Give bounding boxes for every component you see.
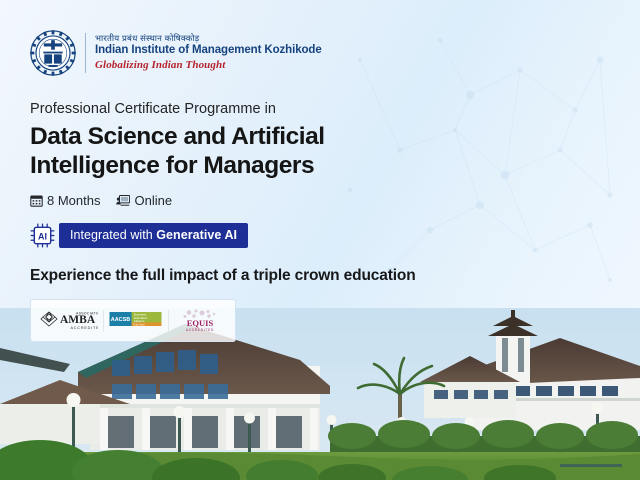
svg-text:AMBA: AMBA xyxy=(60,314,96,326)
ai-badge-prefix: Integrated with xyxy=(70,228,156,242)
banner-content: भारतीय प्रबंध संस्थान कोषिक्कोड़ Indian … xyxy=(0,0,640,320)
aacsb-logo: AACSB Business Education Alliance Third … xyxy=(109,309,163,332)
calendar-icon xyxy=(30,194,43,207)
accreditation-aacsb: AACSB Business Education Alliance Third … xyxy=(109,309,163,332)
ai-badge-emphasis: Generative AI xyxy=(156,228,237,242)
accreditation-divider-1 xyxy=(103,310,104,332)
page-title-line-1: Data Science and Artificial xyxy=(30,123,325,150)
svg-text:AACSB: AACSB xyxy=(111,317,131,323)
accreditation-amba: AMBA ASSOCIATION ACCREDITED xyxy=(40,309,98,333)
institution-tagline: Globalizing Indian Thought xyxy=(95,59,322,72)
svg-text:ACCREDITED: ACCREDITED xyxy=(186,328,214,332)
amba-logo: AMBA ASSOCIATION ACCREDITED xyxy=(40,309,98,333)
institution-name-hindi: भारतीय प्रबंध संस्थान कोषिक्कोड़ xyxy=(95,34,322,44)
value-proposition-tagline: Experience the full impact of a triple c… xyxy=(30,267,640,285)
accreditation-equis: EQUIS ACCREDITED xyxy=(174,308,226,334)
svg-text:ACCREDITED: ACCREDITED xyxy=(71,326,99,330)
meta-duration-label: 8 Months xyxy=(47,193,100,208)
meta-mode: Online xyxy=(116,193,172,208)
svg-text:Alliance: Alliance xyxy=(134,319,145,323)
generative-ai-pill: Integrated with Generative AI xyxy=(59,223,248,248)
logo-divider xyxy=(85,33,86,73)
institution-logo-lockup: भारतीय प्रबंध संस्थान कोषिक्कोड़ Indian … xyxy=(30,26,640,80)
iim-kozhikode-crest-icon xyxy=(30,30,76,76)
svg-text:AI: AI xyxy=(38,231,47,241)
programme-eyebrow: Professional Certificate Programme in xyxy=(30,101,640,117)
institution-name-block: भारतीय प्रबंध संस्थान कोषिक्कोड़ Indian … xyxy=(95,34,322,73)
accreditation-strip: AMBA ASSOCIATION ACCREDITED AACSB Busine… xyxy=(30,299,236,342)
accreditation-divider-2 xyxy=(168,310,169,332)
page-title: Data Science and Artificial Intelligence… xyxy=(30,123,360,181)
programme-meta-row: 8 Months Online xyxy=(30,193,640,208)
svg-text:EQUIS: EQUIS xyxy=(186,318,213,328)
meta-duration: 8 Months xyxy=(30,193,100,208)
promo-banner: भारतीय प्रबंध संस्थान कोषिक्कोड़ Indian … xyxy=(0,0,640,480)
online-screen-icon xyxy=(116,194,130,207)
svg-text:Third Seal: Third Seal xyxy=(133,323,145,326)
svg-text:ASSOCIATION: ASSOCIATION xyxy=(76,311,98,315)
institution-name-english: Indian Institute of Management Kozhikode xyxy=(95,44,322,58)
meta-mode-label: Online xyxy=(134,193,172,208)
ai-chip-icon: AI xyxy=(30,223,55,248)
generative-ai-badge: AI Integrated with Generative AI xyxy=(30,223,640,248)
page-title-line-2: Intelligence for Managers xyxy=(30,152,360,181)
equis-logo: EQUIS ACCREDITED xyxy=(174,308,226,334)
